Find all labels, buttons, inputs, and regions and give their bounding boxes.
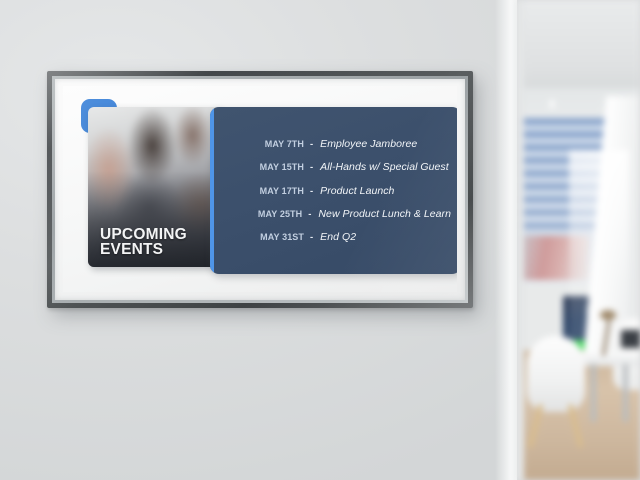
events-panel: MAY 7TH-Employee JamboreeMAY 15TH-All-Ha…	[210, 107, 457, 274]
event-date: MAY 17TH	[218, 186, 304, 196]
event-description: Product Launch	[320, 185, 394, 197]
event-separator: -	[304, 139, 320, 150]
ceiling	[517, 0, 640, 95]
slide-canvas: UPCOMING EVENTS MAY 7TH-Employee Jambore…	[63, 86, 457, 292]
event-description: All-Hands w/ Special Guest	[320, 161, 449, 173]
frame-mat: UPCOMING EVENTS MAY 7TH-Employee Jambore…	[55, 79, 465, 300]
desk-leg-left	[591, 364, 596, 422]
white-chair-icon	[527, 336, 585, 412]
event-description: Employee Jamboree	[320, 138, 417, 150]
photo-card: UPCOMING EVENTS	[88, 107, 222, 267]
wall-corner-edge	[517, 0, 524, 480]
event-separator: -	[304, 232, 320, 243]
slide-heading: UPCOMING EVENTS	[100, 227, 216, 257]
event-description: End Q2	[320, 231, 356, 243]
event-description: New Product Lunch & Learn	[318, 208, 451, 220]
event-separator: -	[302, 209, 318, 220]
slide-heading-line2: EVENTS	[100, 242, 216, 257]
picture-frame: UPCOMING EVENTS MAY 7TH-Employee Jambore…	[47, 71, 473, 308]
desk-leg-right	[623, 364, 628, 422]
ceiling-light-icon	[550, 100, 554, 108]
right-room-view	[517, 0, 640, 480]
frame-inner-bevel: UPCOMING EVENTS MAY 7TH-Employee Jambore…	[52, 76, 468, 303]
event-row: MAY 25TH-New Product Lunch & Learn	[218, 208, 451, 220]
event-row: MAY 31ST-End Q2	[218, 231, 451, 243]
event-date: MAY 7TH	[218, 139, 304, 149]
event-date: MAY 31ST	[218, 232, 304, 242]
event-date: MAY 25TH	[218, 209, 302, 219]
event-date: MAY 15TH	[218, 162, 304, 172]
event-row: MAY 15TH-All-Hands w/ Special Guest	[218, 161, 451, 173]
events-list: MAY 7TH-Employee JamboreeMAY 15TH-All-Ha…	[214, 107, 457, 274]
desk-lamp-icon	[600, 310, 616, 320]
event-row: MAY 7TH-Employee Jamboree	[218, 138, 451, 150]
desk-phone-icon	[621, 330, 640, 348]
event-separator: -	[304, 186, 320, 197]
screenshot-stage: UPCOMING EVENTS MAY 7TH-Employee Jambore…	[0, 0, 640, 480]
event-row: MAY 17TH-Product Launch	[218, 185, 451, 197]
event-separator: -	[304, 162, 320, 173]
